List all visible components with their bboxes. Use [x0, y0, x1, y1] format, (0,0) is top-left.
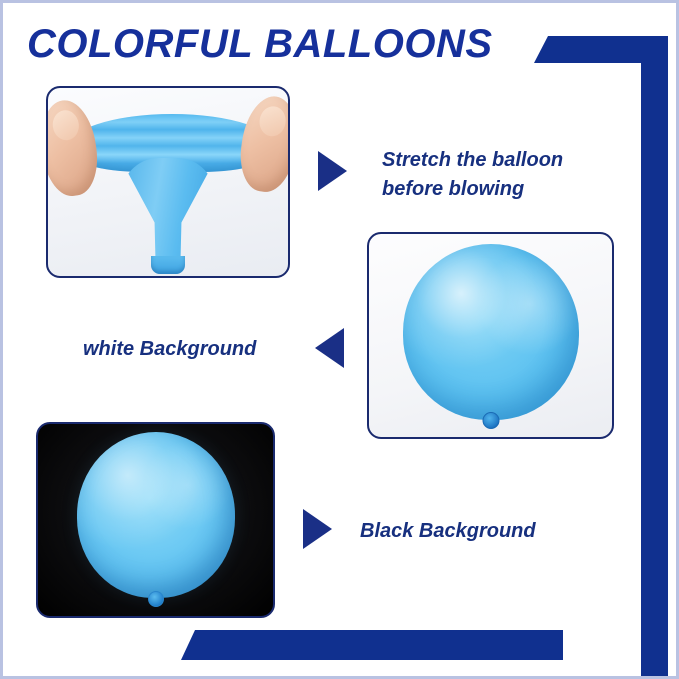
balloon-knot — [482, 412, 499, 429]
balloon-body — [77, 432, 235, 598]
balloon-neck — [120, 158, 216, 262]
thumb-nail — [257, 104, 287, 138]
photo-balloon-white-background — [367, 232, 614, 439]
triangle-right-icon — [303, 509, 332, 549]
caption-black-background: Black Background — [360, 517, 536, 546]
thumb-nail — [51, 109, 81, 142]
photo-balloon-black-background — [36, 422, 275, 618]
triangle-left-icon — [315, 328, 344, 368]
page-title: COLORFUL BALLOONS — [27, 22, 493, 67]
bottom-left-bar-bracket — [3, 630, 563, 660]
balloon-tip — [151, 256, 185, 274]
photo-hands-stretching-balloon — [46, 86, 290, 278]
right-hand — [235, 92, 290, 195]
balloon-body — [403, 244, 579, 420]
triangle-right-icon — [318, 151, 347, 191]
balloon-knot — [148, 591, 164, 607]
caption-white-background: white Background — [83, 335, 256, 364]
infographic-page: COLORFUL BALLOONS Stretch the balloon be… — [0, 0, 679, 679]
caption-stretch: Stretch the balloon before blowing — [382, 146, 563, 204]
left-hand — [46, 97, 102, 200]
